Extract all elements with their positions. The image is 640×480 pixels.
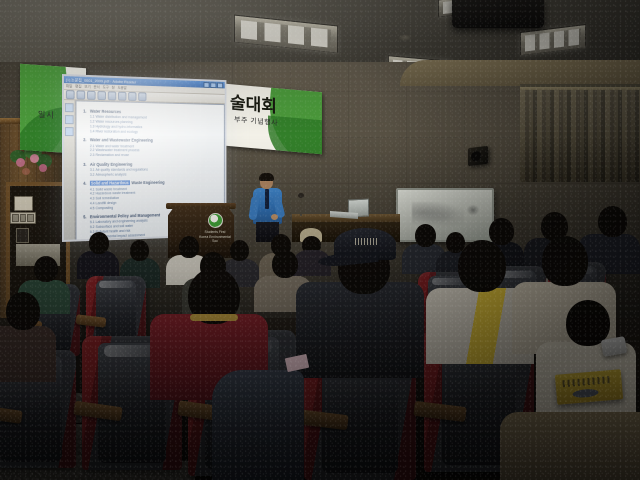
necktie [265, 189, 269, 209]
whiteboard-markings [412, 202, 464, 228]
window-curtain [520, 84, 640, 179]
seated-person-legs [212, 370, 304, 480]
pdf-section-title-highlighted[interactable]: Solid and Hazardous [90, 180, 130, 185]
pdf-item-text: Water and water treatment [96, 144, 134, 148]
pdf-outline-item[interactable]: 2.3Reclamation and reuse [83, 153, 219, 157]
zoom-out-icon[interactable] [97, 91, 105, 100]
pdf-outline-section[interactable]: 3.Air Quality Engineering3.1Air quality … [83, 161, 219, 176]
podium: Students First Korea Environmental Soc [168, 206, 234, 258]
pdf-item-number: 2.1 [90, 144, 94, 148]
university-crest-icon [208, 213, 223, 228]
menu-edit[interactable]: 편집 [75, 83, 81, 89]
open-icon[interactable] [66, 90, 75, 99]
bookmarks-icon[interactable] [65, 103, 74, 112]
ceiling-spot-light [398, 34, 412, 41]
pdf-item-text: Solid waste treatment [96, 187, 127, 191]
pdf-item-number: 3.2 [90, 173, 94, 177]
pdf-item-number: 4.4 [90, 201, 94, 205]
pdf-item-number: 5.2 [90, 225, 94, 229]
pdf-item-number: 4.1 [90, 187, 94, 191]
menu-window[interactable]: 창 [112, 85, 115, 91]
pdf-item-number: 1.3 [90, 124, 94, 128]
menu-file[interactable]: 파일 [66, 83, 72, 89]
close-icon[interactable] [217, 82, 223, 88]
pdf-item-number: 2.3 [90, 153, 94, 157]
podium-text: Students First Korea Environmental Soc [198, 230, 232, 244]
pdf-item-text: Atmospheric analysis [96, 172, 127, 176]
pdf-section-number: 4. [83, 181, 88, 186]
save-icon[interactable] [87, 91, 96, 100]
pdf-item-number: 4.2 [90, 192, 94, 196]
pdf-item-number: 1.1 [90, 115, 94, 119]
pdf-item-text: Landfill design [96, 201, 117, 205]
maximize-icon[interactable] [210, 82, 216, 88]
banner-right-title: 술대회 [230, 88, 277, 117]
print-icon[interactable] [77, 90, 86, 99]
pdf-item-text: Wastewater treatment process [96, 149, 140, 153]
yellow-box-item [555, 369, 623, 405]
pdf-item-number: 3.1 [90, 168, 94, 172]
wall-soffit [400, 60, 640, 86]
pdf-item-text: Composting [96, 206, 114, 210]
select-icon[interactable] [118, 92, 126, 101]
ceiling-light-fixture [234, 15, 338, 54]
hand-icon[interactable] [128, 92, 136, 101]
pdf-section-number: 3. [83, 162, 88, 167]
gooseneck-mic [300, 196, 302, 216]
pdf-outline-item[interactable]: 3.2Atmospheric analysis [83, 172, 219, 177]
pdf-section-title[interactable]: Water and Wastewater Engineering [90, 137, 153, 142]
pdf-outline-section[interactable]: 2.Water and Wastewater Engineering2.1Wat… [83, 137, 219, 157]
menu-tools[interactable]: 도구 [103, 84, 109, 90]
pdf-item-text: Reclamation and reuse [96, 153, 130, 157]
baseball-cap [334, 228, 396, 260]
pdf-section-number: 1. [83, 108, 88, 113]
pdf-outline-item[interactable]: 1.4River restoration and ecology [83, 129, 219, 134]
pdf-item-number: 5.1 [90, 221, 94, 225]
pages-icon[interactable] [65, 115, 74, 124]
whiteboard [396, 188, 494, 242]
power-outlet [16, 228, 29, 243]
minimize-icon[interactable] [204, 82, 210, 88]
wall-speaker [468, 146, 488, 166]
seated-person-legs [500, 412, 640, 480]
banner-left-subtitle: 일시 [38, 109, 55, 121]
pdf-outline-section[interactable]: 1.Water Resources1.1Water distribution a… [83, 108, 219, 134]
conference-banner-right: 술대회 부주 기념행사 [226, 84, 322, 154]
collar-trim [190, 314, 238, 321]
podium-line-3: Soc [198, 239, 232, 244]
pdf-section-number: 5. [83, 214, 88, 219]
attachments-icon[interactable] [65, 127, 74, 136]
pdf-item-text: River restoration and ecology [96, 129, 138, 133]
pdf-item-text: Soil remediation [96, 196, 119, 200]
ceiling-light-fixture [438, 0, 504, 17]
pdf-section-title[interactable]: Water Resources [90, 109, 121, 115]
ceiling-projector [452, 0, 544, 28]
light-switch-plate[interactable] [14, 196, 33, 211]
pdf-item-number: 1.4 [90, 129, 94, 133]
auditorium-photo: 2 일시 술대회 부주 기념행사 [1] 논문집_0001_2009.pdf -… [0, 0, 640, 480]
pdf-item-number: 1.2 [90, 120, 94, 124]
pdf-outline-item[interactable]: 2.2Wastewater treatment process [83, 148, 219, 152]
menu-view[interactable]: 보기 [84, 84, 90, 90]
whiteboard-markings [466, 204, 480, 216]
pdf-section-title[interactable]: Air Quality Engineering [90, 161, 132, 166]
ceiling-light-fixture [520, 24, 586, 56]
pdf-navigation-pane[interactable] [64, 100, 76, 240]
light-switch-bank[interactable] [10, 212, 36, 224]
pdf-item-text: Hazardous waste treatment [96, 191, 136, 196]
pdf-section-number: 2. [83, 137, 88, 142]
menu-document[interactable]: 문서 [94, 84, 100, 90]
pdf-item-text: Air quality standards and regulations [96, 168, 148, 172]
pdf-item-number: 2.2 [90, 148, 94, 152]
presenter [251, 174, 285, 240]
menu-help[interactable]: 도움말 [118, 85, 127, 91]
pdf-item-number: 4.5 [90, 206, 94, 210]
pdf-section-title[interactable]: Waste Engineering [131, 180, 164, 185]
search-icon[interactable] [138, 92, 146, 101]
pdf-item-number: 4.3 [90, 197, 94, 201]
zoom-in-icon[interactable] [108, 91, 116, 100]
